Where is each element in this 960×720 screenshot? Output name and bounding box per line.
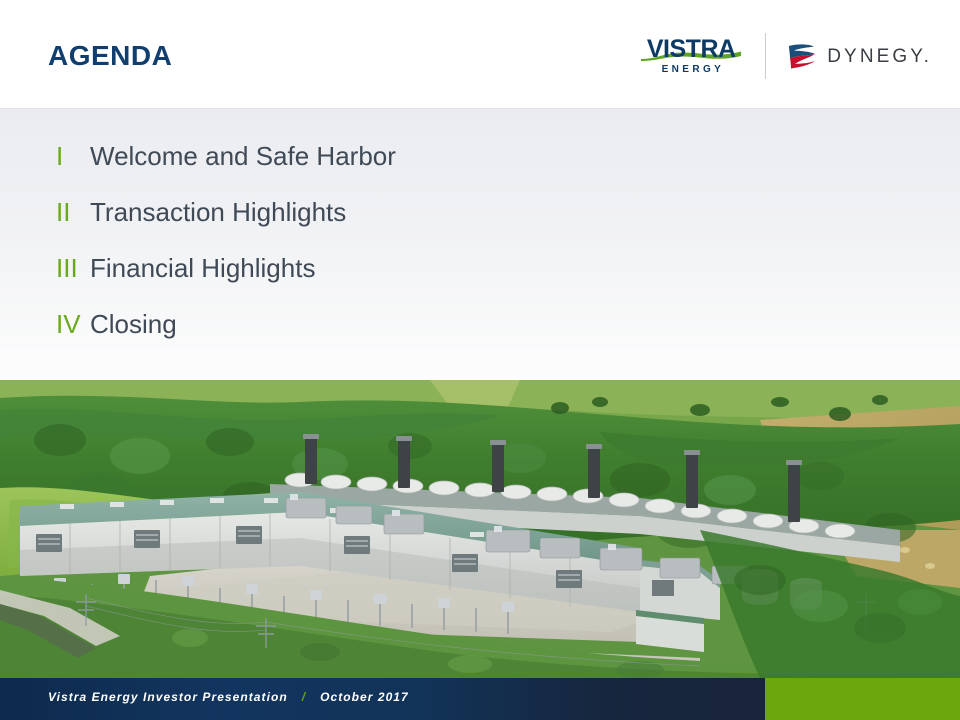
agenda-item-1[interactable]: I Welcome and Safe Harbor [56, 143, 656, 199]
footer-separator: / [302, 691, 306, 703]
agenda-label: Financial Highlights [90, 255, 315, 281]
agenda-label: Transaction Highlights [90, 199, 346, 225]
slide: AGENDA VISTRA ENERGY DYNEGY. [0, 0, 960, 720]
footer-presentation-title: Vistra Energy Investor Presentation [48, 691, 288, 703]
agenda-item-2[interactable]: II Transaction Highlights [56, 199, 656, 255]
vistra-subtitle: ENERGY [658, 65, 724, 75]
agenda-numeral: I [56, 143, 90, 169]
vistra-energy-logo: VISTRA ENERGY [639, 33, 743, 79]
agenda-label: Welcome and Safe Harbor [90, 143, 396, 169]
agenda-list: I Welcome and Safe Harbor II Transaction… [56, 143, 656, 367]
agenda-label: Closing [90, 311, 177, 337]
dynegy-swoosh-icon [788, 43, 816, 69]
agenda-item-3[interactable]: III Financial Highlights [56, 255, 656, 311]
dynegy-wordmark: DYNEGY. [827, 47, 932, 66]
agenda-item-4[interactable]: IV Closing [56, 311, 656, 367]
footer-accent-block [765, 678, 960, 720]
footer-date: October 2017 [320, 691, 409, 703]
slide-header: AGENDA VISTRA ENERGY DYNEGY. [0, 0, 960, 108]
slide-footer: Vistra Energy Investor Presentation / Oc… [0, 678, 960, 720]
page-title: AGENDA [48, 42, 172, 70]
power-plant-photo [0, 380, 960, 678]
agenda-numeral: III [56, 255, 90, 281]
dynegy-logo: DYNEGY. [788, 43, 932, 69]
power-plant-illustration [0, 380, 960, 678]
footer-text: Vistra Energy Investor Presentation / Oc… [48, 691, 409, 703]
vistra-wordmark: VISTRA [647, 37, 736, 62]
agenda-numeral: II [56, 199, 90, 225]
agenda-panel: I Welcome and Safe Harbor II Transaction… [0, 108, 960, 381]
logo-divider [765, 33, 766, 79]
logo-lockup: VISTRA ENERGY DYNEGY. [639, 30, 932, 82]
agenda-numeral: IV [56, 311, 90, 337]
